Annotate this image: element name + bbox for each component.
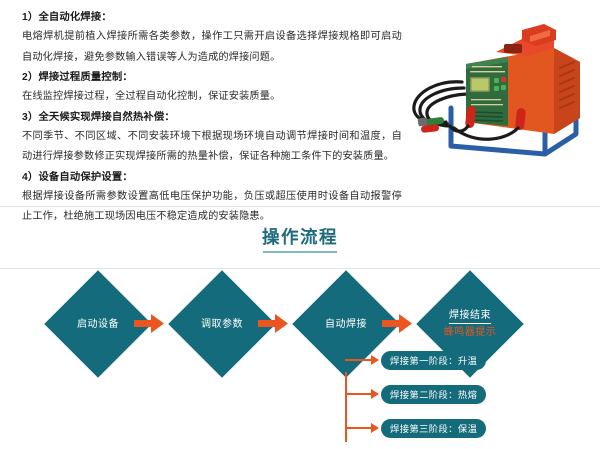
flow-title-container: 操作流程 [0,224,600,253]
branch-line-2 [345,393,373,395]
section-body-4: 根据焊接设备所需参数设置高低电压保护功能，负压或超压使用时设备自动报警停止工作，… [22,187,402,228]
flow-node-text: 启动设备 [77,318,119,331]
flow-title-text: 操作流程 [262,227,338,247]
branch-arrow-icon-1 [371,355,379,365]
section-heading-2: 2）焊接过程质量控制： [22,68,402,87]
electrofusion-welding-machine-image [404,22,594,162]
text-column: 1）全自动化焊接： 电熔焊机提前植入焊接所需各类参数，操作工只需开启设备选择焊接… [22,8,402,228]
section-number-1: 1） [22,12,38,23]
flow-node-subtext: 蜂鸣器提示 [444,326,497,339]
lcd-screen [470,77,490,92]
section-heading-4: 4）设备自动保护设置： [22,168,402,187]
stage-pill-1[interactable]: 焊接第一阶段：升温 [381,351,486,370]
section-body-2: 在线监控焊接过程，全过程自动化控制，保证安装质量。 [22,87,402,108]
flow-title-underline [263,251,337,254]
arrow-right-icon-3 [382,314,412,333]
stage-pill-2[interactable]: 焊接第二阶段：热熔 [381,385,486,404]
operation-flowchart: 启动设备 调取参数 自动焊接 焊接结束 蜂鸣器提示 [0,268,600,449]
flow-node-text: 调取参数 [201,318,243,331]
section-heading-1: 1）全自动化焊接： [22,8,402,27]
arrow-right-icon-1 [134,314,164,333]
stage-pill-label-2: 焊接第二阶段：热熔 [390,387,477,401]
divider-top [0,206,600,207]
section-number-3: 3） [22,112,38,123]
stage-pill-label-3: 焊接第三阶段：保温 [390,421,477,435]
section-title-3: 全天候实现焊接自然热补偿： [38,112,174,123]
branch-trunk-line [345,372,347,442]
section-title-4: 设备自动保护设置： [38,172,132,183]
branch-arrow-icon-2 [371,389,379,399]
stage-pill-label-1: 焊接第一阶段：升温 [390,353,477,367]
section-body-3: 不同季节、不同区域、不同安装环境下根据现场环境自动调节焊接时间和温度，自动进行焊… [22,127,402,168]
stage-pill-3[interactable]: 焊接第三阶段：保温 [381,419,486,438]
branch-line-1 [345,359,373,361]
section-body-1: 电熔焊机提前植入焊接所需各类参数，操作工只需开启设备选择焊接规格即可启动自动化焊… [22,27,402,68]
flow-title: 操作流程 [262,224,338,253]
flow-node-text: 焊接结束 [449,309,491,324]
branch-line-3 [345,427,373,429]
section-title-1: 全自动化焊接： [38,12,111,23]
section-number-4: 4） [22,172,38,183]
flow-node-text: 自动焊接 [325,318,367,331]
document-text-section: 1）全自动化焊接： 电熔焊机提前植入焊接所需各类参数，操作工只需开启设备选择焊接… [0,0,600,205]
section-heading-3: 3）全天候实现焊接自然热补偿： [22,108,402,127]
section-number-2: 2） [22,72,38,83]
section-title-2: 焊接过程质量控制： [38,72,132,83]
arrow-right-icon-2 [258,314,288,333]
branch-arrow-icon-3 [371,423,379,433]
